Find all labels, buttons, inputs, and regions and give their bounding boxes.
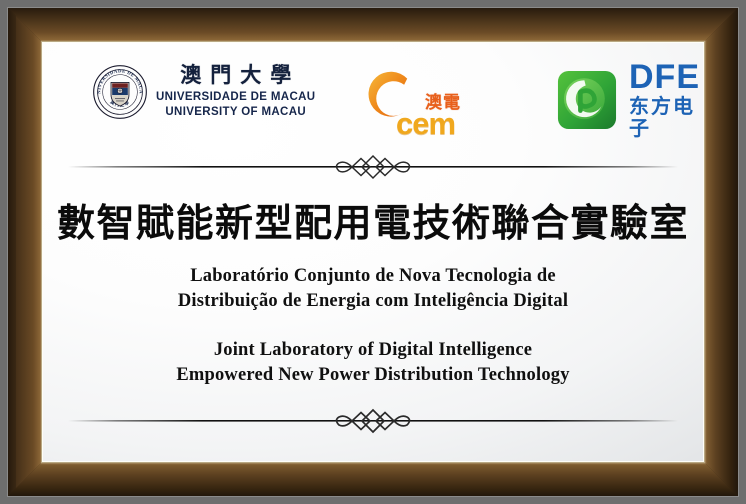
cem-wordmark: cem: [396, 106, 455, 142]
title-portuguese: Laboratório Conjunto de Nova Tecnologia …: [42, 264, 704, 314]
frame-edge-left: [8, 8, 42, 496]
plaque-surface: UNIVERSIDADE DE MACAU 澳門之學 澳: [42, 42, 704, 462]
divider-top: [42, 150, 704, 184]
dfe-chinese-name: 东方电子: [629, 96, 704, 140]
um-english-name: UNIVERSITY OF MACAU: [165, 105, 306, 120]
frame-edge-right: [704, 8, 738, 496]
title-chinese: 數智賦能新型配用電技術聯合實驗室: [42, 192, 704, 247]
title-english-line-1: Joint Laboratory of Digital Intelligence: [42, 338, 704, 363]
frame-edge-bottom: [8, 462, 738, 496]
logo-cem: 澳電 cem: [362, 58, 492, 142]
plaque-screenshot: UNIVERSIDADE DE MACAU 澳門之學 澳: [0, 0, 746, 504]
title-portuguese-line-1: Laboratório Conjunto de Nova Tecnologia …: [42, 264, 704, 289]
university-seal-icon: UNIVERSIDADE DE MACAU 澳門之學: [92, 64, 148, 120]
ornament-icon-bottom: [42, 404, 704, 438]
dfe-mark-icon: [554, 67, 620, 133]
um-chinese-name: 澳門大學: [171, 64, 300, 86]
title-english-line-2: Empowered New Power Distribution Technol…: [42, 363, 704, 388]
ornament-icon-top: [42, 150, 704, 184]
frame-edge-top: [8, 8, 738, 42]
title-portuguese-line-2: Distribuição de Energia com Inteligência…: [42, 289, 704, 314]
logo-dfe: DFE 东方电子: [554, 60, 704, 140]
title-english: Joint Laboratory of Digital Intelligence…: [42, 338, 704, 388]
um-portuguese-name: UNIVERSIDADE DE MACAU: [156, 90, 315, 105]
divider-bottom: [42, 404, 704, 438]
logo-university-of-macau: UNIVERSIDADE DE MACAU 澳門之學 澳: [92, 64, 315, 120]
dfe-latin-name: DFE: [629, 60, 704, 94]
logo-row: UNIVERSIDADE DE MACAU 澳門之學 澳: [42, 54, 704, 154]
